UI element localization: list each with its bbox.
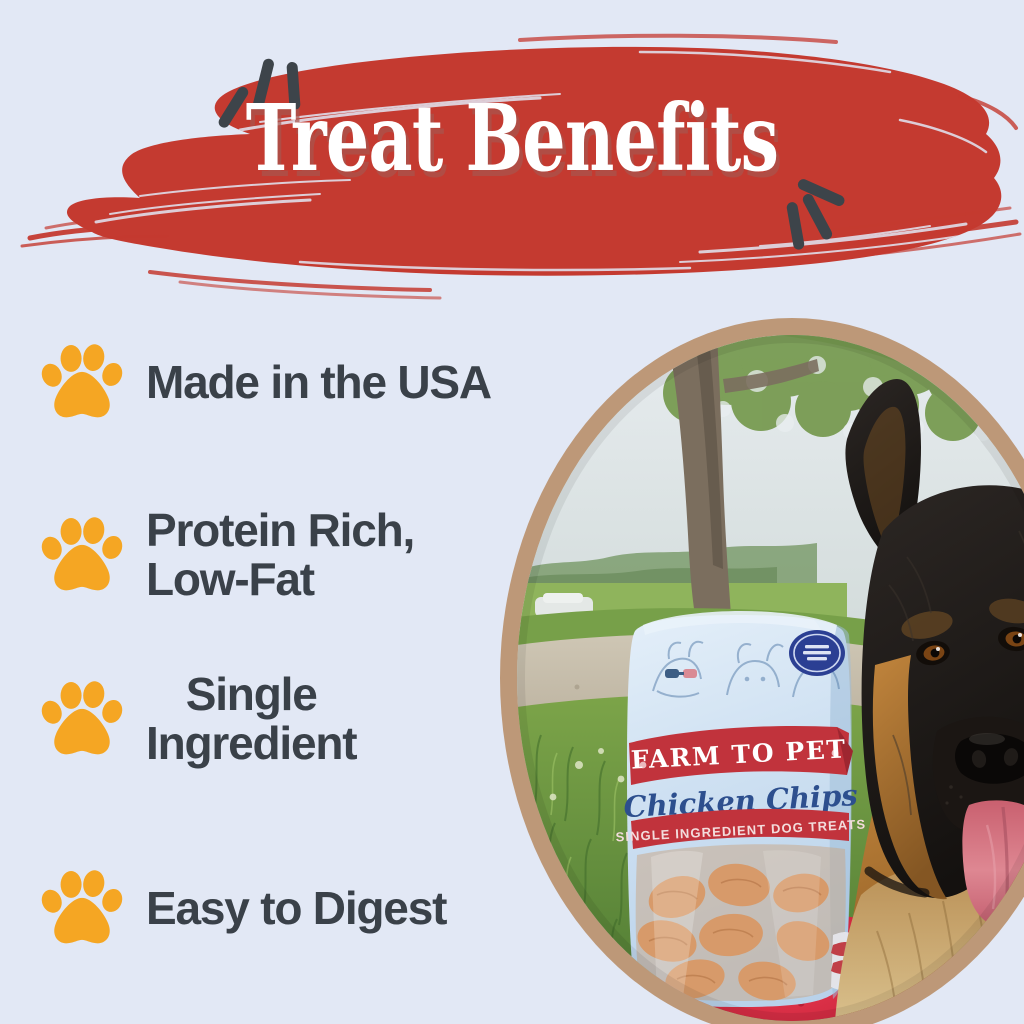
paw-print-icon: [40, 677, 124, 761]
product-photo-frame: FARM TO PET Chicken Chips SINGLE INGREDI…: [500, 318, 1024, 1024]
infographic-root: Treat Benefits Made in the USA: [0, 0, 1024, 1024]
paw-print-icon: [40, 866, 124, 950]
header-banner: Treat Benefits: [0, 0, 1024, 300]
benefit-item-single-ingredient: Single Ingredient: [40, 670, 356, 768]
paw-print-icon: [40, 513, 124, 597]
benefit-label: Single Ingredient: [146, 670, 356, 768]
paw-print-icon: [40, 340, 124, 424]
benefit-label: Easy to Digest: [146, 884, 446, 933]
made-in-usa-badge: [789, 630, 845, 676]
treat-package: FARM TO PET Chicken Chips SINGLE INGREDI…: [615, 611, 866, 1007]
product-photo: FARM TO PET Chicken Chips SINGLE INGREDI…: [517, 335, 1024, 1021]
benefit-item-protein-rich: Protein Rich, Low-Fat: [40, 506, 414, 604]
benefit-label: Protein Rich, Low-Fat: [146, 506, 414, 604]
benefit-item-made-in-usa: Made in the USA: [40, 340, 491, 424]
benefit-label: Made in the USA: [146, 358, 491, 407]
benefit-item-easy-to-digest: Easy to Digest: [40, 866, 446, 950]
